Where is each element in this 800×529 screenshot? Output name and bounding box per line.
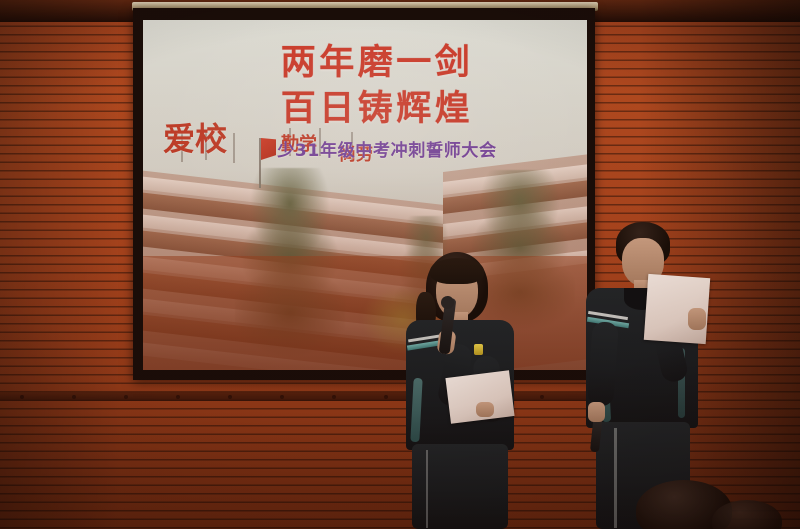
wall-shadow-left: [0, 0, 120, 529]
hair-fringe: [430, 258, 484, 284]
pant-stripe: [426, 450, 428, 528]
student-female: [398, 252, 530, 529]
hand-holding-paper: [688, 308, 706, 330]
slide-title-line-1: 两年磨一剑: [143, 34, 587, 85]
wall-trim-rail: [0, 392, 660, 401]
pant-stripe: [614, 428, 617, 528]
slide-subtitle: 少31年级中考冲刺誓师大会: [143, 136, 587, 161]
slide-title-line-2: 百日铸辉煌: [143, 80, 587, 131]
hand-holding-mic: [588, 402, 605, 422]
photograph-scene: 爱校 勤学 尚劳 两年磨一剑 百日铸辉煌 少31年级中考冲刺誓师大会: [0, 0, 800, 529]
school-badge: [474, 344, 483, 355]
hand-holding-paper: [476, 402, 494, 417]
